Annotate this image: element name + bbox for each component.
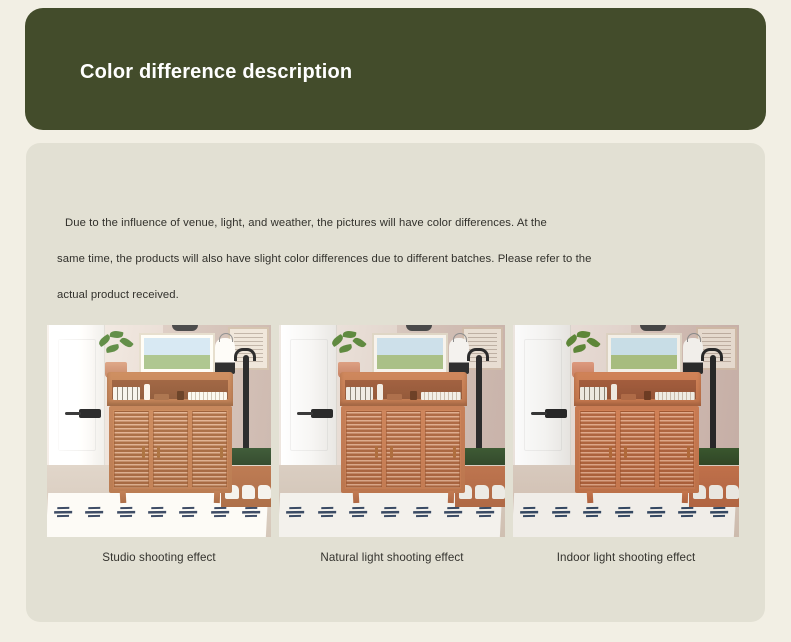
description-block: Due to the influence of venue, light, an… [57,205,677,313]
product-photo-indoor[interactable] [513,325,739,537]
description-line-1: Due to the influence of venue, light, an… [57,205,677,241]
comparison-gallery: Studio shooting effect [47,325,745,564]
photo-caption: Natural light shooting effect [279,551,505,564]
gallery-item: Indoor light shooting effect [513,325,739,564]
product-photo-natural[interactable] [279,325,505,537]
photo-caption: Studio shooting effect [47,551,271,564]
gallery-item: Studio shooting effect [47,325,271,564]
description-line-2: same time, the products will also have s… [57,241,677,277]
product-photo-studio[interactable] [47,325,271,537]
header-watermark-decor [55,28,69,78]
header-banner: Color difference description [25,8,766,130]
photo-caption: Indoor light shooting effect [513,551,739,564]
description-line-3: actual product received. [57,277,677,313]
content-panel: Due to the influence of venue, light, an… [26,143,765,622]
page-title: Color difference description [80,61,352,84]
gallery-item: Natural light shooting effect [279,325,505,564]
